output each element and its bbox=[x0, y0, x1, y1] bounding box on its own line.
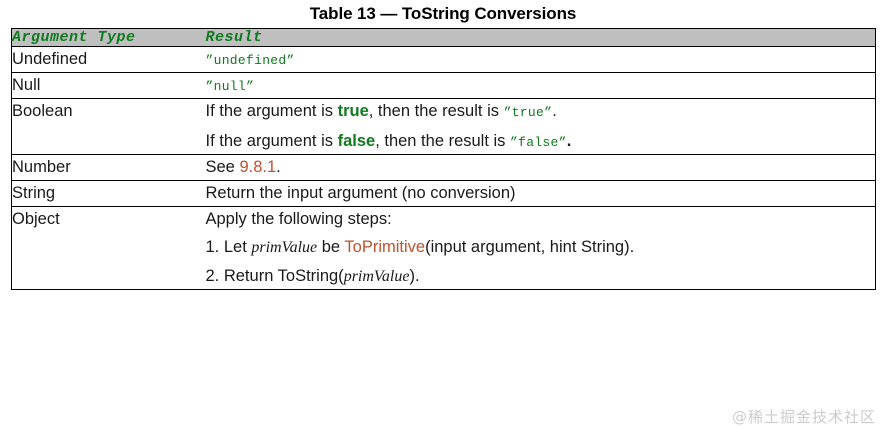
table-row: Boolean If the argument is true, then th… bbox=[12, 98, 876, 155]
step-2-suffix: ). bbox=[409, 267, 419, 285]
result-literal: ”undefined” bbox=[206, 53, 295, 68]
cell-argument-type: Undefined bbox=[12, 47, 206, 73]
cell-result: Apply the following steps: 1. Let primVa… bbox=[206, 206, 876, 290]
sentence-suffix: . bbox=[552, 102, 557, 120]
table-caption: Table 13 — ToString Conversions bbox=[0, 0, 886, 29]
variable-primvalue: primValue bbox=[344, 268, 410, 285]
see-prefix: See bbox=[206, 158, 240, 176]
variable-primvalue: primValue bbox=[251, 239, 317, 256]
sentence-suffix: . bbox=[567, 132, 572, 150]
result-literal: ”null” bbox=[206, 79, 255, 94]
column-header-argument-type: Argument Type bbox=[12, 29, 206, 47]
step-1-suffix: (input argument, hint String). bbox=[425, 238, 634, 256]
result-literal-false: ”false” bbox=[510, 135, 567, 150]
table-row: Object Apply the following steps: 1. Let… bbox=[12, 206, 876, 290]
cell-argument-type: Null bbox=[12, 72, 206, 98]
step-2-prefix: 2. Return ToString( bbox=[206, 267, 344, 285]
step-1-prefix: 1. Let bbox=[206, 238, 252, 256]
cell-argument-type: Number bbox=[12, 155, 206, 181]
table-row: Undefined ”undefined” bbox=[12, 47, 876, 73]
cell-argument-type: String bbox=[12, 180, 206, 206]
tostring-conversions-table: Argument Type Result Undefined ”undefine… bbox=[11, 28, 876, 290]
cell-result: ”null” bbox=[206, 72, 876, 98]
cell-result: ”undefined” bbox=[206, 47, 876, 73]
boolean-false-sentence: If the argument is false, then the resul… bbox=[206, 129, 876, 154]
step-1-middle: be bbox=[317, 238, 344, 256]
cell-argument-type: Object bbox=[12, 206, 206, 290]
table-figure: Table 13 — ToString Conversions Argument… bbox=[0, 0, 886, 429]
cell-argument-type: Boolean bbox=[12, 98, 206, 155]
sentence-middle: , then the result is bbox=[375, 132, 510, 150]
boolean-true-keyword: true bbox=[338, 102, 369, 120]
boolean-false-keyword: false bbox=[338, 132, 376, 150]
cell-result: Return the input argument (no conversion… bbox=[206, 180, 876, 206]
step-2: 2. Return ToString(primValue). bbox=[206, 264, 876, 289]
result-literal-true: ”true” bbox=[504, 105, 553, 120]
table-row: Number See 9.8.1. bbox=[12, 155, 876, 181]
cell-result: See 9.8.1. bbox=[206, 155, 876, 181]
sentence-prefix: If the argument is bbox=[206, 102, 338, 120]
steps-intro: Apply the following steps: bbox=[206, 207, 876, 232]
table-container: Argument Type Result Undefined ”undefine… bbox=[11, 28, 875, 290]
cell-result: If the argument is true, then the result… bbox=[206, 98, 876, 155]
site-watermark: @稀土掘金技术社区 bbox=[732, 406, 876, 427]
step-1: 1. Let primValue be ToPrimitive(input ar… bbox=[206, 235, 876, 260]
table-header-row: Argument Type Result bbox=[12, 29, 876, 47]
table-row: Null ”null” bbox=[12, 72, 876, 98]
table-row: String Return the input argument (no con… bbox=[12, 180, 876, 206]
sentence-middle: , then the result is bbox=[369, 102, 504, 120]
column-header-result: Result bbox=[206, 29, 876, 47]
toprimitive-cross-reference-link[interactable]: ToPrimitive bbox=[344, 238, 425, 256]
sentence-prefix: If the argument is bbox=[206, 132, 338, 150]
see-suffix: . bbox=[276, 158, 281, 176]
result-text: Return the input argument (no conversion… bbox=[206, 181, 876, 206]
boolean-true-sentence: If the argument is true, then the result… bbox=[206, 99, 876, 124]
section-cross-reference-link[interactable]: 9.8.1 bbox=[239, 158, 276, 176]
